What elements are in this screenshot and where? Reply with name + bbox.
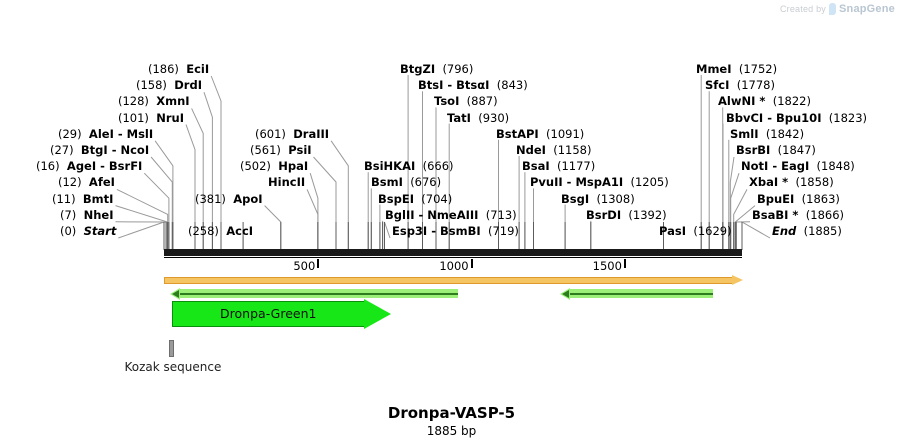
site-leader-line xyxy=(734,189,747,250)
site-position: (29) xyxy=(58,127,82,141)
restriction-site-label[interactable]: (12) AfeI xyxy=(58,176,115,188)
site-position: (1847) xyxy=(778,143,816,157)
enzyme-name: NcoI xyxy=(120,143,149,157)
site-position: (1822) xyxy=(773,94,811,108)
restriction-site-label[interactable]: Esp3I - BsmBI (719) xyxy=(392,225,519,237)
site-position: (1866) xyxy=(806,208,844,222)
restriction-site-label[interactable]: (186) EciI xyxy=(148,63,209,75)
site-leader-line xyxy=(331,141,348,250)
enzyme-name: AccI xyxy=(226,224,253,238)
kozak-sequence-label: Kozak sequence xyxy=(125,360,222,374)
site-position: (128) xyxy=(118,94,149,108)
restriction-site-label[interactable]: XbaI * (1858) xyxy=(749,176,834,188)
restriction-site-label[interactable]: BglII - NmeAIII (713) xyxy=(385,209,517,221)
watermark-created-by: Created by xyxy=(780,4,826,14)
enzyme-name: PsiI xyxy=(288,143,311,157)
restriction-site-label[interactable]: (7) NheI xyxy=(60,209,114,221)
restriction-site-label[interactable]: BstAPI (1091) xyxy=(496,128,584,140)
enzyme-name: SmlI xyxy=(730,127,759,141)
enzyme-name: AleI xyxy=(89,127,114,141)
ruler-tick-mark xyxy=(317,259,319,268)
restriction-site-label[interactable]: (158) DrdI xyxy=(136,79,202,91)
enzyme-name: MspA1I xyxy=(575,175,623,189)
enzyme-name: DraIII xyxy=(293,127,329,141)
enzyme-name: BsrDI xyxy=(586,208,621,222)
restriction-site-label[interactable]: (258) AccI xyxy=(188,225,253,237)
kozak-sequence-marker[interactable] xyxy=(169,340,174,357)
star-activity-icon: * xyxy=(788,208,798,222)
site-position: (7) xyxy=(60,208,76,222)
enzyme-name: BtsαI xyxy=(456,78,489,92)
enzyme-name: BtsI xyxy=(418,78,443,92)
restriction-site-label[interactable]: BtsI - BtsαI (843) xyxy=(418,79,528,91)
enzyme-name: HpaI xyxy=(278,159,308,173)
enzyme-name: PvuII xyxy=(530,175,563,189)
plasmid-map-canvas: Created by SnapGene (186) EciI(158) DrdI… xyxy=(0,0,903,446)
restriction-site-label[interactable]: BsrDI (1392) xyxy=(586,209,667,221)
enzyme-name: XbaI xyxy=(749,175,778,189)
site-leader-line xyxy=(116,222,167,250)
restriction-site-label[interactable]: TsoI (887) xyxy=(434,95,498,107)
site-leader-line xyxy=(155,141,173,250)
star-activity-icon: * xyxy=(755,94,765,108)
enzyme-name: MslI xyxy=(127,127,154,141)
enzyme-name: BsrBI xyxy=(736,143,770,157)
enzyme-name: NotI xyxy=(741,159,768,173)
enzyme-name: BsiHKAI xyxy=(364,159,415,173)
snapgene-logo-icon xyxy=(829,3,836,15)
enzyme-name: MmeI xyxy=(696,62,732,76)
enzyme-name: Start xyxy=(84,224,117,238)
site-position: (11) xyxy=(52,192,76,206)
restriction-site-label[interactable]: BsaBI * (1866) xyxy=(752,209,844,221)
restriction-site-label[interactable]: PvuII - MspA1I (1205) xyxy=(530,176,669,188)
restriction-site-label[interactable]: NdeI (1158) xyxy=(516,144,592,156)
site-position: (16) xyxy=(36,159,60,173)
site-position: (666) xyxy=(423,159,454,173)
gene-feature-arrowhead xyxy=(364,299,391,329)
site-leader-line xyxy=(731,173,739,250)
restriction-site-label[interactable]: (0) Start xyxy=(60,225,116,237)
site-position: (1848) xyxy=(817,159,855,173)
enzyme-name: TsoI xyxy=(434,94,459,108)
antisense-feature-line xyxy=(570,293,713,295)
restriction-site-label[interactable]: (11) BmtI xyxy=(52,193,113,205)
site-position: (1823) xyxy=(829,111,867,125)
enzyme-name: PasI xyxy=(659,224,686,238)
site-position: (887) xyxy=(467,94,498,108)
enzyme-separator: - xyxy=(443,78,456,92)
site-position: (676) xyxy=(410,175,441,189)
enzyme-name: HincII xyxy=(268,175,305,189)
restriction-site-label[interactable]: PasI (1629) xyxy=(659,225,732,237)
enzyme-name: NheI xyxy=(84,208,114,222)
ruler-baseline xyxy=(164,257,742,258)
snapgene-watermark: Created by SnapGene xyxy=(780,3,895,15)
page-title: Dronpa-VASP-5 xyxy=(0,404,903,422)
enzyme-name: NdeI xyxy=(516,143,546,157)
restriction-site-label[interactable]: (601) DraIII xyxy=(255,128,329,140)
site-position: (796) xyxy=(442,62,473,76)
enzyme-name: SfcI xyxy=(705,78,729,92)
restriction-site-label[interactable]: BtgZI (796) xyxy=(400,63,473,75)
restriction-site-label[interactable]: BsgI (1308) xyxy=(561,193,635,205)
enzyme-name: BpuEI xyxy=(757,192,794,206)
site-leader-line xyxy=(307,189,318,250)
site-position: (1885) xyxy=(804,224,842,238)
enzyme-name: BtgZI xyxy=(400,62,435,76)
enzyme-separator: - xyxy=(763,111,776,125)
site-position: (1842) xyxy=(766,127,804,141)
enzyme-name: AgeI xyxy=(67,159,96,173)
site-leader-line xyxy=(742,222,770,250)
restriction-site-label[interactable]: (128) XmnI xyxy=(118,95,190,107)
sequence-backbone xyxy=(164,249,742,256)
restriction-site-label[interactable]: AlwNI * (1822) xyxy=(718,95,811,107)
site-leader-line xyxy=(118,222,164,250)
antisense-feature-line xyxy=(180,293,458,295)
enzyme-name: BsrFI xyxy=(109,159,142,173)
site-position: (561) xyxy=(250,143,281,157)
site-position: (1205) xyxy=(630,175,668,189)
enzyme-separator: - xyxy=(415,208,428,222)
restriction-site-label[interactable]: BsmI (676) xyxy=(371,176,441,188)
restriction-site-label[interactable]: MmeI (1752) xyxy=(696,63,777,75)
site-position: (1778) xyxy=(737,78,775,92)
enzyme-separator: - xyxy=(114,127,127,141)
restriction-site-label[interactable]: (29) AleI - MslI xyxy=(58,128,153,140)
site-position: (186) xyxy=(148,62,179,76)
enzyme-name: AfeI xyxy=(89,175,115,189)
site-position: (1752) xyxy=(739,62,777,76)
enzyme-name: BsaI xyxy=(522,159,550,173)
enzyme-name: BglII xyxy=(385,208,415,222)
enzyme-separator: - xyxy=(96,159,109,173)
enzyme-name: BsgI xyxy=(561,192,589,206)
site-leader-line xyxy=(151,157,172,250)
restriction-site-label[interactable]: BsiHKAI (666) xyxy=(364,160,454,172)
enzyme-name: DrdI xyxy=(174,78,202,92)
enzyme-separator: - xyxy=(427,224,440,238)
site-position: (1308) xyxy=(596,192,634,206)
restriction-site-label[interactable]: BpuEI (1863) xyxy=(757,193,840,205)
site-leader-line xyxy=(736,222,750,250)
enzyme-name: AlwNI xyxy=(718,94,755,108)
ruler-tick-mark xyxy=(624,259,626,268)
restriction-site-label[interactable]: SfcI (1778) xyxy=(705,79,775,91)
enzyme-separator: - xyxy=(108,143,121,157)
enzyme-name: BspEI xyxy=(378,192,414,206)
enzyme-name: XmnI xyxy=(156,94,189,108)
ruler-tick-mark xyxy=(471,259,473,268)
enzyme-name: BsmBI xyxy=(440,224,481,238)
site-leader-line xyxy=(117,189,168,250)
site-position: (1629) xyxy=(693,224,731,238)
site-position: (1858) xyxy=(795,175,833,189)
enzyme-separator: - xyxy=(768,159,781,173)
site-position: (704) xyxy=(421,192,452,206)
site-leader-line xyxy=(144,173,169,250)
restriction-site-label[interactable]: (502) HpaI xyxy=(240,160,308,172)
enzyme-name: BsaBI xyxy=(752,208,788,222)
restriction-site-label[interactable]: TatI (930) xyxy=(447,112,509,124)
restriction-site-label[interactable]: BsrBI (1847) xyxy=(736,144,816,156)
enzyme-name: Esp3I xyxy=(392,224,427,238)
restriction-site-label[interactable]: (27) BtgI - NcoI xyxy=(50,144,149,156)
site-position: (601) xyxy=(255,127,286,141)
site-position: (258) xyxy=(188,224,219,238)
enzyme-name: BsmI xyxy=(371,175,403,189)
watermark-brand: SnapGene xyxy=(839,3,895,15)
site-leader-line xyxy=(116,206,168,250)
sequence-length-label: 1885 bp xyxy=(0,424,903,438)
restriction-site-label[interactable]: BspEI (704) xyxy=(378,193,452,205)
site-position: (381) xyxy=(195,192,226,206)
ruler-tick-label: 1000 xyxy=(439,259,468,273)
restriction-site-label[interactable]: (381) ApoI xyxy=(195,193,263,205)
enzyme-separator: - xyxy=(563,175,576,189)
enzyme-name: BtgI xyxy=(81,143,108,157)
restriction-site-label[interactable]: SmlI (1842) xyxy=(730,128,804,140)
site-leader-line xyxy=(310,173,318,250)
site-position: (158) xyxy=(136,78,167,92)
site-position: (1177) xyxy=(557,159,595,173)
site-leader-line xyxy=(265,206,281,250)
restriction-site-label[interactable]: BsaI (1177) xyxy=(522,160,595,172)
site-leader-line xyxy=(314,157,337,250)
enzyme-name: End xyxy=(772,224,796,238)
enzyme-name: EciI xyxy=(186,62,209,76)
site-leader-line xyxy=(385,222,391,250)
orange-feature-arrowhead xyxy=(732,275,743,285)
restriction-site-label[interactable]: HincII xyxy=(268,176,305,188)
site-position: (930) xyxy=(478,111,509,125)
enzyme-name: NmeAIII xyxy=(427,208,478,222)
enzyme-name: BstAPI xyxy=(496,127,539,141)
site-position: (12) xyxy=(58,175,82,189)
enzyme-name: EagI xyxy=(781,159,809,173)
site-position: (1863) xyxy=(802,192,840,206)
site-position: (27) xyxy=(50,143,74,157)
orange-feature-bar[interactable] xyxy=(164,277,733,284)
enzyme-name: NruI xyxy=(156,111,184,125)
enzyme-name: BbvCI xyxy=(726,111,763,125)
gene-feature-label: Dronpa-Green1 xyxy=(172,301,365,327)
restriction-site-label[interactable]: End (1885) xyxy=(772,225,842,237)
restriction-site-label[interactable]: (16) AgeI - BsrFI xyxy=(36,160,142,172)
antisense-feature-arrowhead xyxy=(172,290,179,298)
ruler-tick-label: 500 xyxy=(293,259,315,273)
restriction-site-label[interactable]: (561) PsiI xyxy=(250,144,312,156)
site-position: (0) xyxy=(60,224,76,238)
star-activity-icon: * xyxy=(778,175,788,189)
site-position: (719) xyxy=(488,224,519,238)
site-position: (843) xyxy=(497,78,528,92)
site-position: (1392) xyxy=(628,208,666,222)
enzyme-name: ApoI xyxy=(233,192,262,206)
ruler-tick-label: 1500 xyxy=(593,259,622,273)
enzyme-name: BmtI xyxy=(83,192,114,206)
enzyme-name: TatI xyxy=(447,111,471,125)
enzyme-name: Bpu10I xyxy=(776,111,821,125)
site-position: (713) xyxy=(486,208,517,222)
restriction-site-label[interactable]: BbvCI - Bpu10I (1823) xyxy=(726,112,867,124)
restriction-site-label[interactable]: (101) NruI xyxy=(118,112,184,124)
restriction-site-label[interactable]: NotI - EagI (1848) xyxy=(741,160,855,172)
site-position: (1158) xyxy=(553,143,591,157)
antisense-feature-arrowhead xyxy=(562,290,569,298)
site-position: (1091) xyxy=(546,127,584,141)
site-position: (502) xyxy=(240,159,271,173)
site-position: (101) xyxy=(118,111,149,125)
